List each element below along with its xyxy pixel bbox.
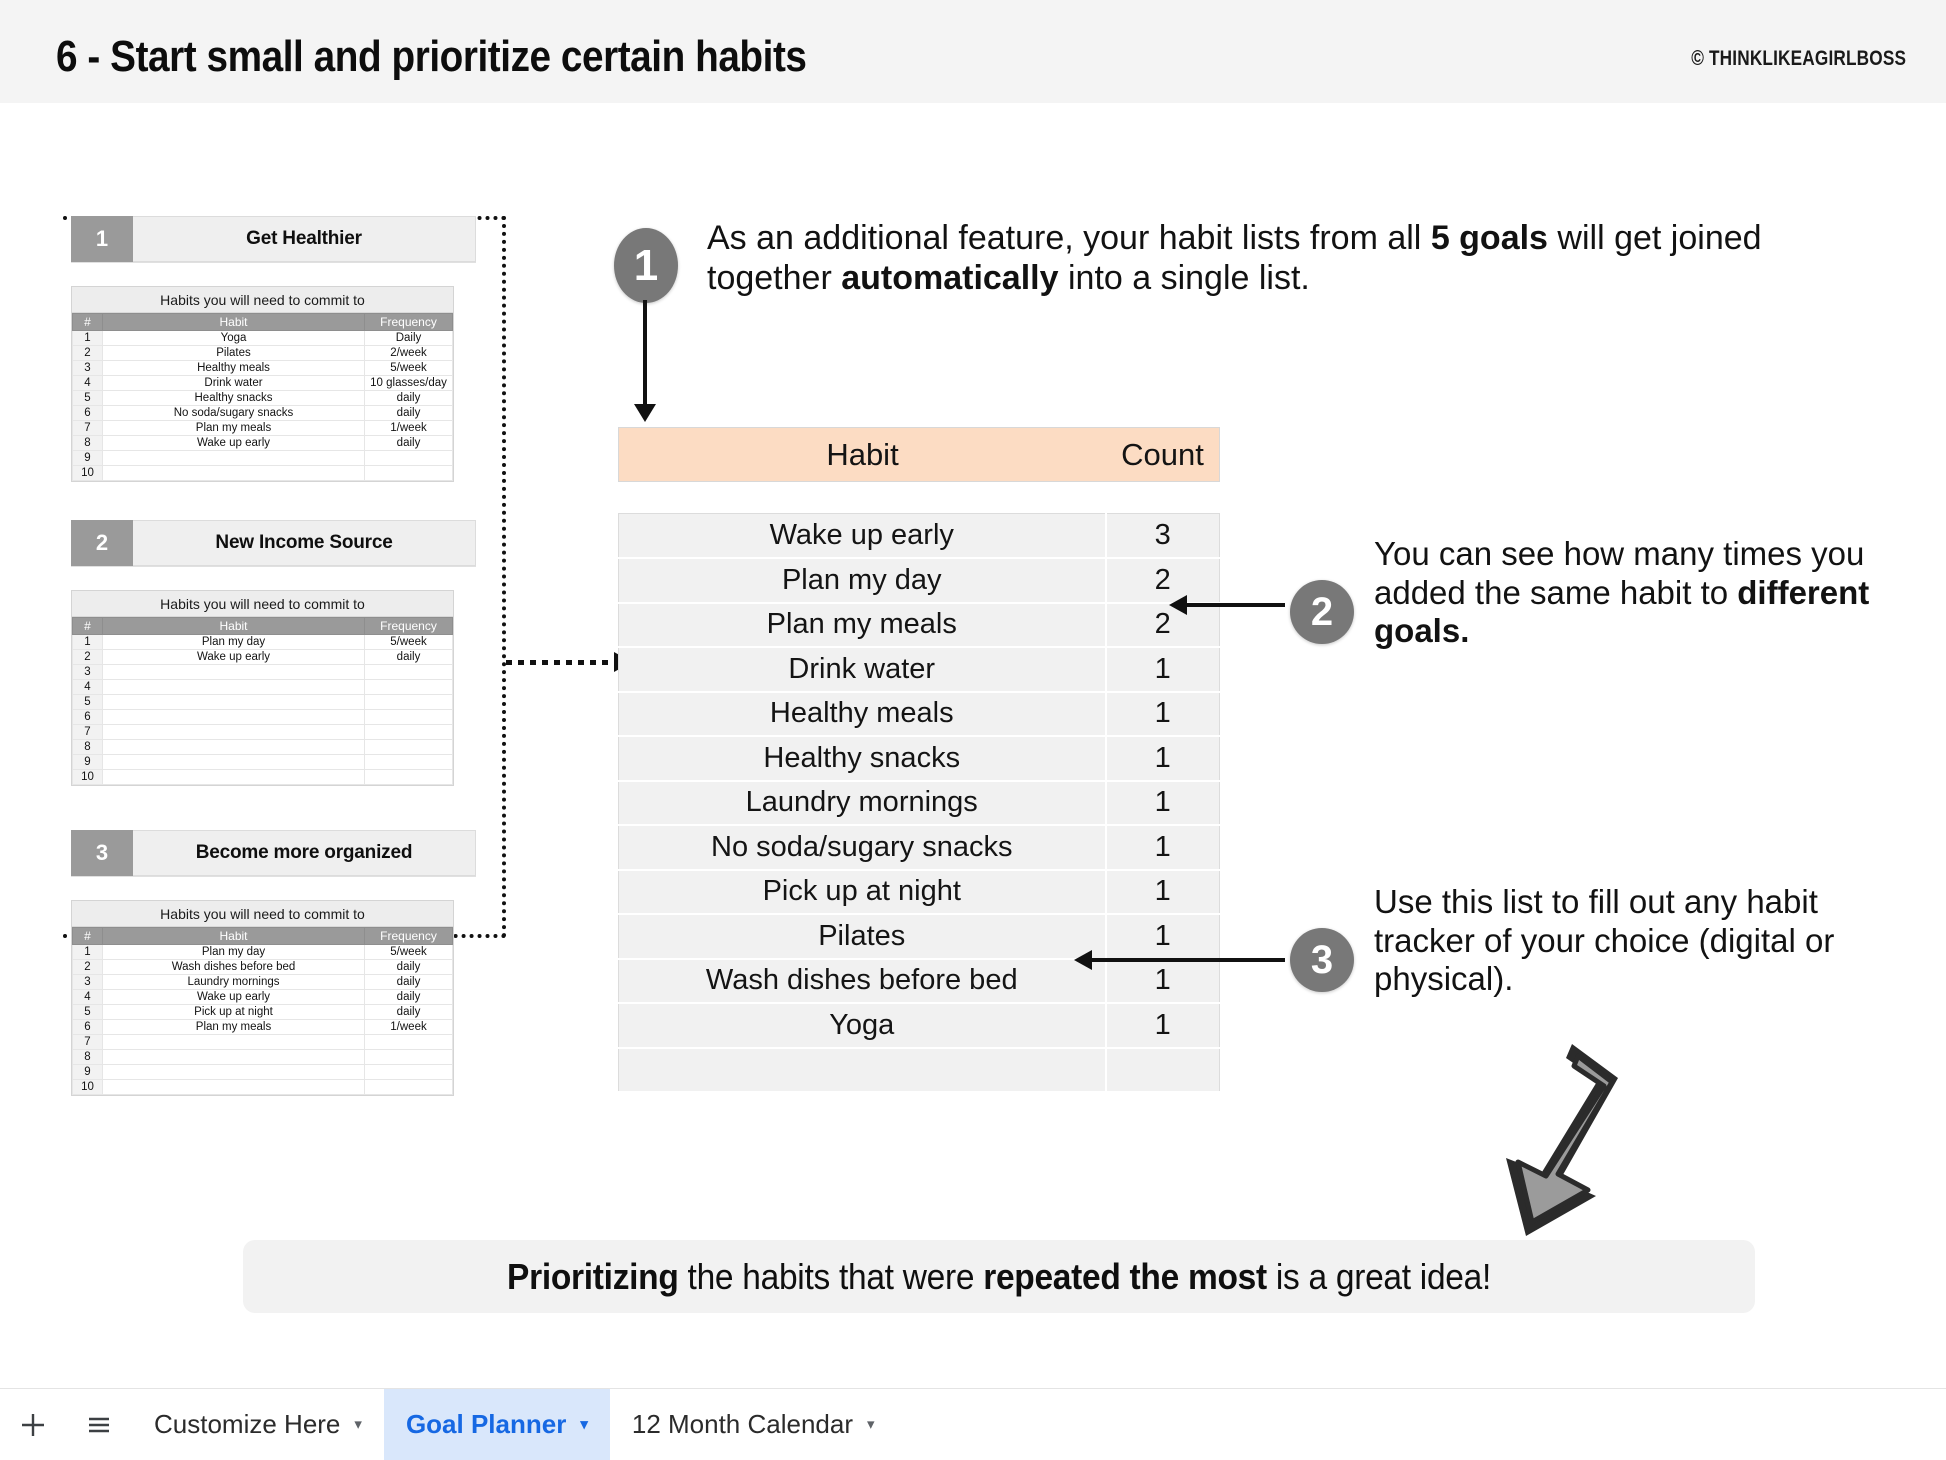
table-cell: Plan my day (103, 635, 365, 650)
table-cell: Wash dishes before bed (103, 960, 365, 975)
table-cell: 3 (73, 975, 103, 990)
combined-cell-habit: Pick up at night (619, 870, 1106, 915)
table-row: 10 (73, 466, 453, 481)
combined-cell-count: 1 (1106, 781, 1220, 826)
sheet-tab-label: 12 Month Calendar (632, 1409, 853, 1440)
table-row: 6Plan my meals1/week (73, 1020, 453, 1035)
header-band: 6 - Start small and prioritize certain h… (0, 0, 1946, 103)
table-cell (365, 695, 453, 710)
tip-banner: Prioritizing the habits that were repeat… (243, 1240, 1755, 1313)
combined-cell-count: 1 (1106, 825, 1220, 870)
callout-badge-1: 1 (614, 228, 678, 303)
combined-cell-count: 2 (1106, 558, 1220, 603)
table-cell: 4 (73, 376, 103, 391)
table-cell: 1 (73, 945, 103, 960)
all-sheets-menu-icon[interactable] (66, 1389, 132, 1460)
table-row: Yoga1 (619, 1003, 1220, 1048)
table-row: Pilates1 (619, 914, 1220, 959)
table-cell (103, 665, 365, 680)
table-row: 5Pick up at nightdaily (73, 1005, 453, 1020)
table-cell: daily (365, 990, 453, 1005)
goal-table-col-header: Habit (103, 314, 365, 331)
table-row: 6No soda/sugary snacksdaily (73, 406, 453, 421)
table-cell: 5 (73, 1005, 103, 1020)
table-row: No soda/sugary snacks1 (619, 825, 1220, 870)
combined-cell-habit: Wash dishes before bed (619, 959, 1106, 1004)
combined-cell-count (1106, 1048, 1220, 1093)
table-cell: 2 (73, 960, 103, 975)
combined-cell-count: 1 (1106, 736, 1220, 781)
table-cell: Wake up early (103, 436, 365, 451)
table-row: Wash dishes before bed1 (619, 959, 1220, 1004)
table-row (619, 1048, 1220, 1093)
table-cell (103, 1065, 365, 1080)
table-cell: 1 (73, 635, 103, 650)
table-row: 7Plan my meals1/week (73, 421, 453, 436)
combined-header-count: Count (1106, 437, 1219, 473)
table-cell (365, 680, 453, 695)
slide-root: 6 - Start small and prioritize certain h… (0, 0, 1946, 1460)
table-row: 8 (73, 1050, 453, 1065)
table-cell: Daily (365, 331, 453, 346)
table-row: 5 (73, 695, 453, 710)
table-cell: Pick up at night (103, 1005, 365, 1020)
goal-panel: 1Get HealthierHabits you will need to co… (71, 216, 476, 262)
combined-cell-habit: No soda/sugary snacks (619, 825, 1106, 870)
table-cell: 7 (73, 421, 103, 436)
combined-cell-habit: Laundry mornings (619, 781, 1106, 826)
table-cell: daily (365, 960, 453, 975)
table-cell (365, 1035, 453, 1050)
combined-cell-habit: Plan my meals (619, 603, 1106, 648)
table-row: 2Pilates2/week (73, 346, 453, 361)
table-cell (365, 770, 453, 785)
combined-cell-count: 1 (1106, 959, 1220, 1004)
table-cell: 10 (73, 1080, 103, 1095)
table-cell: Laundry mornings (103, 975, 365, 990)
table-row: 4Drink water10 glasses/day (73, 376, 453, 391)
sheet-tab-label: Customize Here (154, 1409, 340, 1440)
table-row: Healthy snacks1 (619, 736, 1220, 781)
callout-2-arrow (1185, 603, 1285, 607)
table-cell: 10 glasses/day (365, 376, 453, 391)
callout-1-arrow (643, 300, 647, 405)
table-row: 1Plan my day5/week (73, 635, 453, 650)
table-cell (365, 1065, 453, 1080)
goal-habits-table: Habits you will need to commit to#HabitF… (71, 590, 454, 786)
table-cell (103, 1050, 365, 1065)
table-cell: 5/week (365, 361, 453, 376)
combined-cell-count: 1 (1106, 914, 1220, 959)
table-cell (103, 740, 365, 755)
combined-cell-habit: Pilates (619, 914, 1106, 959)
goal-number: 2 (71, 520, 133, 566)
combined-cell-count: 1 (1106, 692, 1220, 737)
table-row: 8Wake up earlydaily (73, 436, 453, 451)
combined-cell-habit: Drink water (619, 647, 1106, 692)
table-row: Wake up early3 (619, 514, 1220, 559)
table-cell (365, 1050, 453, 1065)
table-cell: 8 (73, 1050, 103, 1065)
table-cell: 3 (73, 665, 103, 680)
callout-text-3: Use this list to fill out any habit trac… (1374, 883, 1919, 999)
table-cell: 2 (73, 346, 103, 361)
table-cell: Wake up early (103, 990, 365, 1005)
table-cell: 4 (73, 990, 103, 1005)
callout-3-arrow (1090, 958, 1285, 962)
goal-panel-header: 1Get Healthier (71, 216, 476, 262)
table-row: 7 (73, 1035, 453, 1050)
goal-title: Get Healthier (133, 216, 476, 262)
table-cell: 1 (73, 331, 103, 346)
table-cell: daily (365, 406, 453, 421)
table-cell: daily (365, 436, 453, 451)
table-row: 10 (73, 1080, 453, 1095)
add-sheet-icon[interactable] (0, 1389, 66, 1460)
table-cell (103, 1080, 365, 1095)
table-cell (103, 755, 365, 770)
table-row: Healthy meals1 (619, 692, 1220, 737)
table-row: 3Healthy meals5/week (73, 361, 453, 376)
goal-habits-table-title: Habits you will need to commit to (72, 591, 453, 617)
page-title: 6 - Start small and prioritize certain h… (56, 32, 807, 82)
goal-table-col-header: Frequency (365, 314, 453, 331)
table-cell: 9 (73, 451, 103, 466)
combined-cell-habit: Healthy snacks (619, 736, 1106, 781)
table-cell: daily (365, 391, 453, 406)
table-cell: 2/week (365, 346, 453, 361)
combined-habits-table: Wake up early3Plan my day2Plan my meals2… (618, 513, 1220, 1093)
table-row: 7 (73, 725, 453, 740)
goal-title: New Income Source (133, 520, 476, 566)
copyright-notice: © THINKLIKEAGIRLBOSS (1691, 47, 1906, 71)
table-cell (365, 710, 453, 725)
table-cell: 5 (73, 391, 103, 406)
table-row: 9 (73, 1065, 453, 1080)
table-cell: Drink water (103, 376, 365, 391)
table-cell: Plan my meals (103, 421, 365, 436)
goal-panel-header: 3Become more organized (71, 830, 476, 876)
table-cell (365, 451, 453, 466)
sheet-tab-label: Goal Planner (406, 1409, 566, 1440)
table-cell: 7 (73, 1035, 103, 1050)
table-cell: Plan my meals (103, 1020, 365, 1035)
tip-banner-text: Prioritizing the habits that were repeat… (507, 1256, 1491, 1298)
table-row: 5Healthy snacksdaily (73, 391, 453, 406)
chevron-down-icon[interactable]: ▾ (354, 1417, 362, 1432)
table-cell: 5 (73, 695, 103, 710)
table-cell: Wake up early (103, 650, 365, 665)
table-cell: 3 (73, 361, 103, 376)
table-row: 10 (73, 770, 453, 785)
goal-table-col-header: Frequency (365, 928, 453, 945)
combined-cell-count: 1 (1106, 1003, 1220, 1048)
table-cell: 5/week (365, 635, 453, 650)
callout-badge-3: 3 (1290, 928, 1354, 992)
combined-cell-count: 2 (1106, 603, 1220, 648)
combined-header-habit: Habit (619, 437, 1106, 473)
goal-habits-table-title: Habits you will need to commit to (72, 287, 453, 313)
table-row: 3Laundry morningsdaily (73, 975, 453, 990)
big-down-left-arrow-icon (1500, 1040, 1630, 1240)
goal-panel: 3Become more organizedHabits you will ne… (71, 830, 476, 876)
table-cell (103, 680, 365, 695)
combined-cell-count: 1 (1106, 647, 1220, 692)
table-row: Pick up at night1 (619, 870, 1220, 915)
table-row: 8 (73, 740, 453, 755)
goal-panel-header: 2New Income Source (71, 520, 476, 566)
chevron-down-icon[interactable]: ▾ (867, 1417, 875, 1432)
combined-cell-habit: Plan my day (619, 558, 1106, 603)
goal-habits-table-title: Habits you will need to commit to (72, 901, 453, 927)
table-cell: 1/week (365, 1020, 453, 1035)
goal-table-col-header: Habit (103, 928, 365, 945)
goal-table-col-header: Habit (103, 618, 365, 635)
table-cell: 9 (73, 1065, 103, 1080)
sheet-tab[interactable]: Customize Here▾ (132, 1389, 384, 1460)
table-cell: daily (365, 650, 453, 665)
sheet-tabbar: Customize Here▾Goal Planner▾12 Month Cal… (0, 1388, 1946, 1460)
table-cell (103, 710, 365, 725)
table-cell (103, 695, 365, 710)
table-cell: 6 (73, 406, 103, 421)
table-cell: Yoga (103, 331, 365, 346)
table-cell (365, 466, 453, 481)
callout-badge-2: 2 (1290, 580, 1354, 644)
table-row: 2Wash dishes before beddaily (73, 960, 453, 975)
sheet-tab[interactable]: 12 Month Calendar▾ (610, 1389, 897, 1460)
table-row: 1YogaDaily (73, 331, 453, 346)
goal-table-col-header: Frequency (365, 618, 453, 635)
table-cell (365, 740, 453, 755)
callout-text-2: You can see how many times you added the… (1374, 535, 1894, 651)
table-cell (365, 755, 453, 770)
goals-to-combined-dotted-arrow (506, 660, 616, 665)
combined-cell-count: 3 (1106, 514, 1220, 559)
table-cell: Healthy meals (103, 361, 365, 376)
goal-panel: 2New Income SourceHabits you will need t… (71, 520, 476, 566)
table-cell: Pilates (103, 346, 365, 361)
table-cell: daily (365, 1005, 453, 1020)
table-cell: 7 (73, 725, 103, 740)
goal-habits-table: Habits you will need to commit to#HabitF… (71, 286, 454, 482)
table-cell (103, 451, 365, 466)
combined-cell-habit (619, 1048, 1106, 1093)
table-row: 6 (73, 710, 453, 725)
table-cell: 8 (73, 436, 103, 451)
table-row: 9 (73, 755, 453, 770)
sheet-tab-active[interactable]: Goal Planner▾ (384, 1389, 610, 1460)
table-cell: 1/week (365, 421, 453, 436)
table-row: 4 (73, 680, 453, 695)
goal-table-col-header: # (73, 314, 103, 331)
table-row: Laundry mornings1 (619, 781, 1220, 826)
table-cell (103, 770, 365, 785)
table-row: Drink water1 (619, 647, 1220, 692)
table-row: 1Plan my day5/week (73, 945, 453, 960)
table-cell (365, 665, 453, 680)
table-cell (103, 725, 365, 740)
combined-cell-habit: Wake up early (619, 514, 1106, 559)
goal-number: 1 (71, 216, 133, 262)
table-row: Plan my day2 (619, 558, 1220, 603)
goal-number: 3 (71, 830, 133, 876)
goal-table-col-header: # (73, 928, 103, 945)
combined-cell-habit: Yoga (619, 1003, 1106, 1048)
table-cell: 4 (73, 680, 103, 695)
table-cell (103, 466, 365, 481)
table-cell: 10 (73, 770, 103, 785)
goal-title: Become more organized (133, 830, 476, 876)
table-cell: No soda/sugary snacks (103, 406, 365, 421)
table-cell: daily (365, 975, 453, 990)
table-cell (365, 1080, 453, 1095)
goal-habits-table: Habits you will need to commit to#HabitF… (71, 900, 454, 1096)
goal-table-col-header: # (73, 618, 103, 635)
combined-cell-count: 1 (1106, 870, 1220, 915)
table-cell: 6 (73, 1020, 103, 1035)
table-cell: 10 (73, 466, 103, 481)
table-cell: 6 (73, 710, 103, 725)
table-row: 2Wake up earlydaily (73, 650, 453, 665)
table-row: 9 (73, 451, 453, 466)
table-row: Plan my meals2 (619, 603, 1220, 648)
table-cell: 8 (73, 740, 103, 755)
table-cell: 5/week (365, 945, 453, 960)
table-row: 3 (73, 665, 453, 680)
combined-table-header: Habit Count (618, 427, 1220, 482)
table-cell: 9 (73, 755, 103, 770)
table-cell (365, 725, 453, 740)
chevron-down-icon[interactable]: ▾ (580, 1417, 588, 1432)
table-cell: 2 (73, 650, 103, 665)
table-cell: Healthy snacks (103, 391, 365, 406)
combined-cell-habit: Healthy meals (619, 692, 1106, 737)
table-cell (103, 1035, 365, 1050)
sheet-tabs: Customize Here▾Goal Planner▾12 Month Cal… (132, 1389, 897, 1460)
callout-text-1: As an additional feature, your habit lis… (707, 219, 1887, 299)
table-cell: Plan my day (103, 945, 365, 960)
table-row: 4Wake up earlydaily (73, 990, 453, 1005)
